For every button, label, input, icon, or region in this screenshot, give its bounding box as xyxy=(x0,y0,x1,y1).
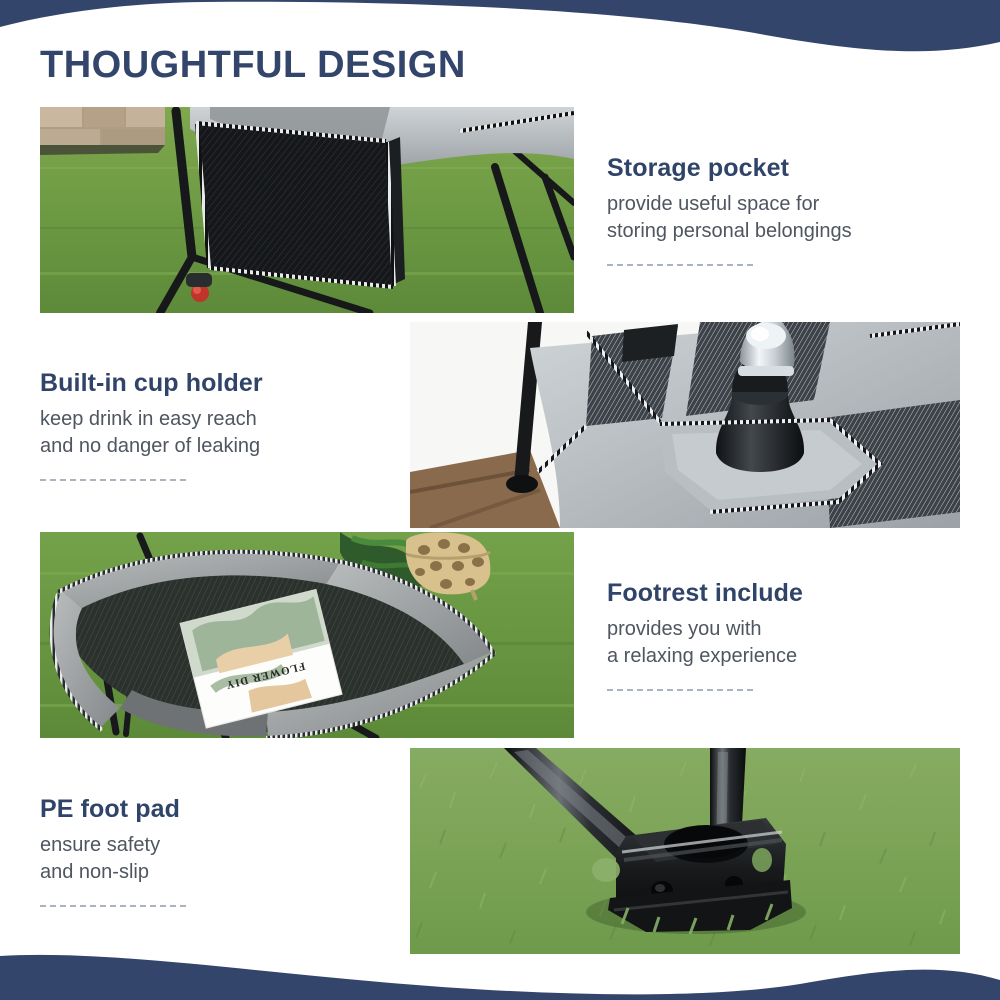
photo-pe-foot-pad xyxy=(410,748,960,954)
dashed-divider-storage-pocket xyxy=(607,264,753,266)
feature-desc-line1-cup-holder: keep drink in easy reach xyxy=(40,406,390,432)
feature-heading-footrest: Footrest include xyxy=(607,579,965,608)
feature-heading-cup-holder: Built-in cup holder xyxy=(40,369,390,398)
feature-desc-line1-footrest: provides you with xyxy=(607,616,965,642)
copy-cup-holder: Built-in cup holder keep drink in easy r… xyxy=(25,322,410,528)
copy-pe-foot-pad: PE foot pad ensure safety and non-slip xyxy=(25,748,410,954)
feature-row-cup-holder: Built-in cup holder keep drink in easy r… xyxy=(25,322,960,528)
feature-row-pe-foot-pad: PE foot pad ensure safety and non-slip xyxy=(25,748,960,954)
feature-desc-line2-storage-pocket: storing personal belongings xyxy=(607,218,965,244)
dashed-divider-cup-holder xyxy=(40,479,186,481)
feature-desc-line1-storage-pocket: provide useful space for xyxy=(607,191,965,217)
photo-storage-pocket xyxy=(40,107,574,313)
feature-row-storage-pocket: Storage pocket provide useful space for … xyxy=(40,107,975,313)
feature-list: Storage pocket provide useful space for … xyxy=(0,0,1000,1000)
feature-heading-pe-foot-pad: PE foot pad xyxy=(40,795,390,824)
copy-footrest: Footrest include provides you with a rel… xyxy=(574,532,975,738)
dashed-divider-footrest xyxy=(607,689,753,691)
feature-desc-line2-pe-foot-pad: and non-slip xyxy=(40,859,390,885)
feature-desc-line1-pe-foot-pad: ensure safety xyxy=(40,832,390,858)
photo-footrest: FLOWER DIY xyxy=(40,532,574,738)
feature-heading-storage-pocket: Storage pocket xyxy=(607,154,965,183)
feature-row-footrest: FLOWER DIY Footrest include provides you… xyxy=(40,532,975,738)
feature-desc-line2-footrest: a relaxing experience xyxy=(607,643,965,669)
feature-desc-line2-cup-holder: and no danger of leaking xyxy=(40,433,390,459)
dashed-divider-pe-foot-pad xyxy=(40,905,186,907)
photo-cup-holder xyxy=(410,322,960,528)
copy-storage-pocket: Storage pocket provide useful space for … xyxy=(574,107,975,313)
